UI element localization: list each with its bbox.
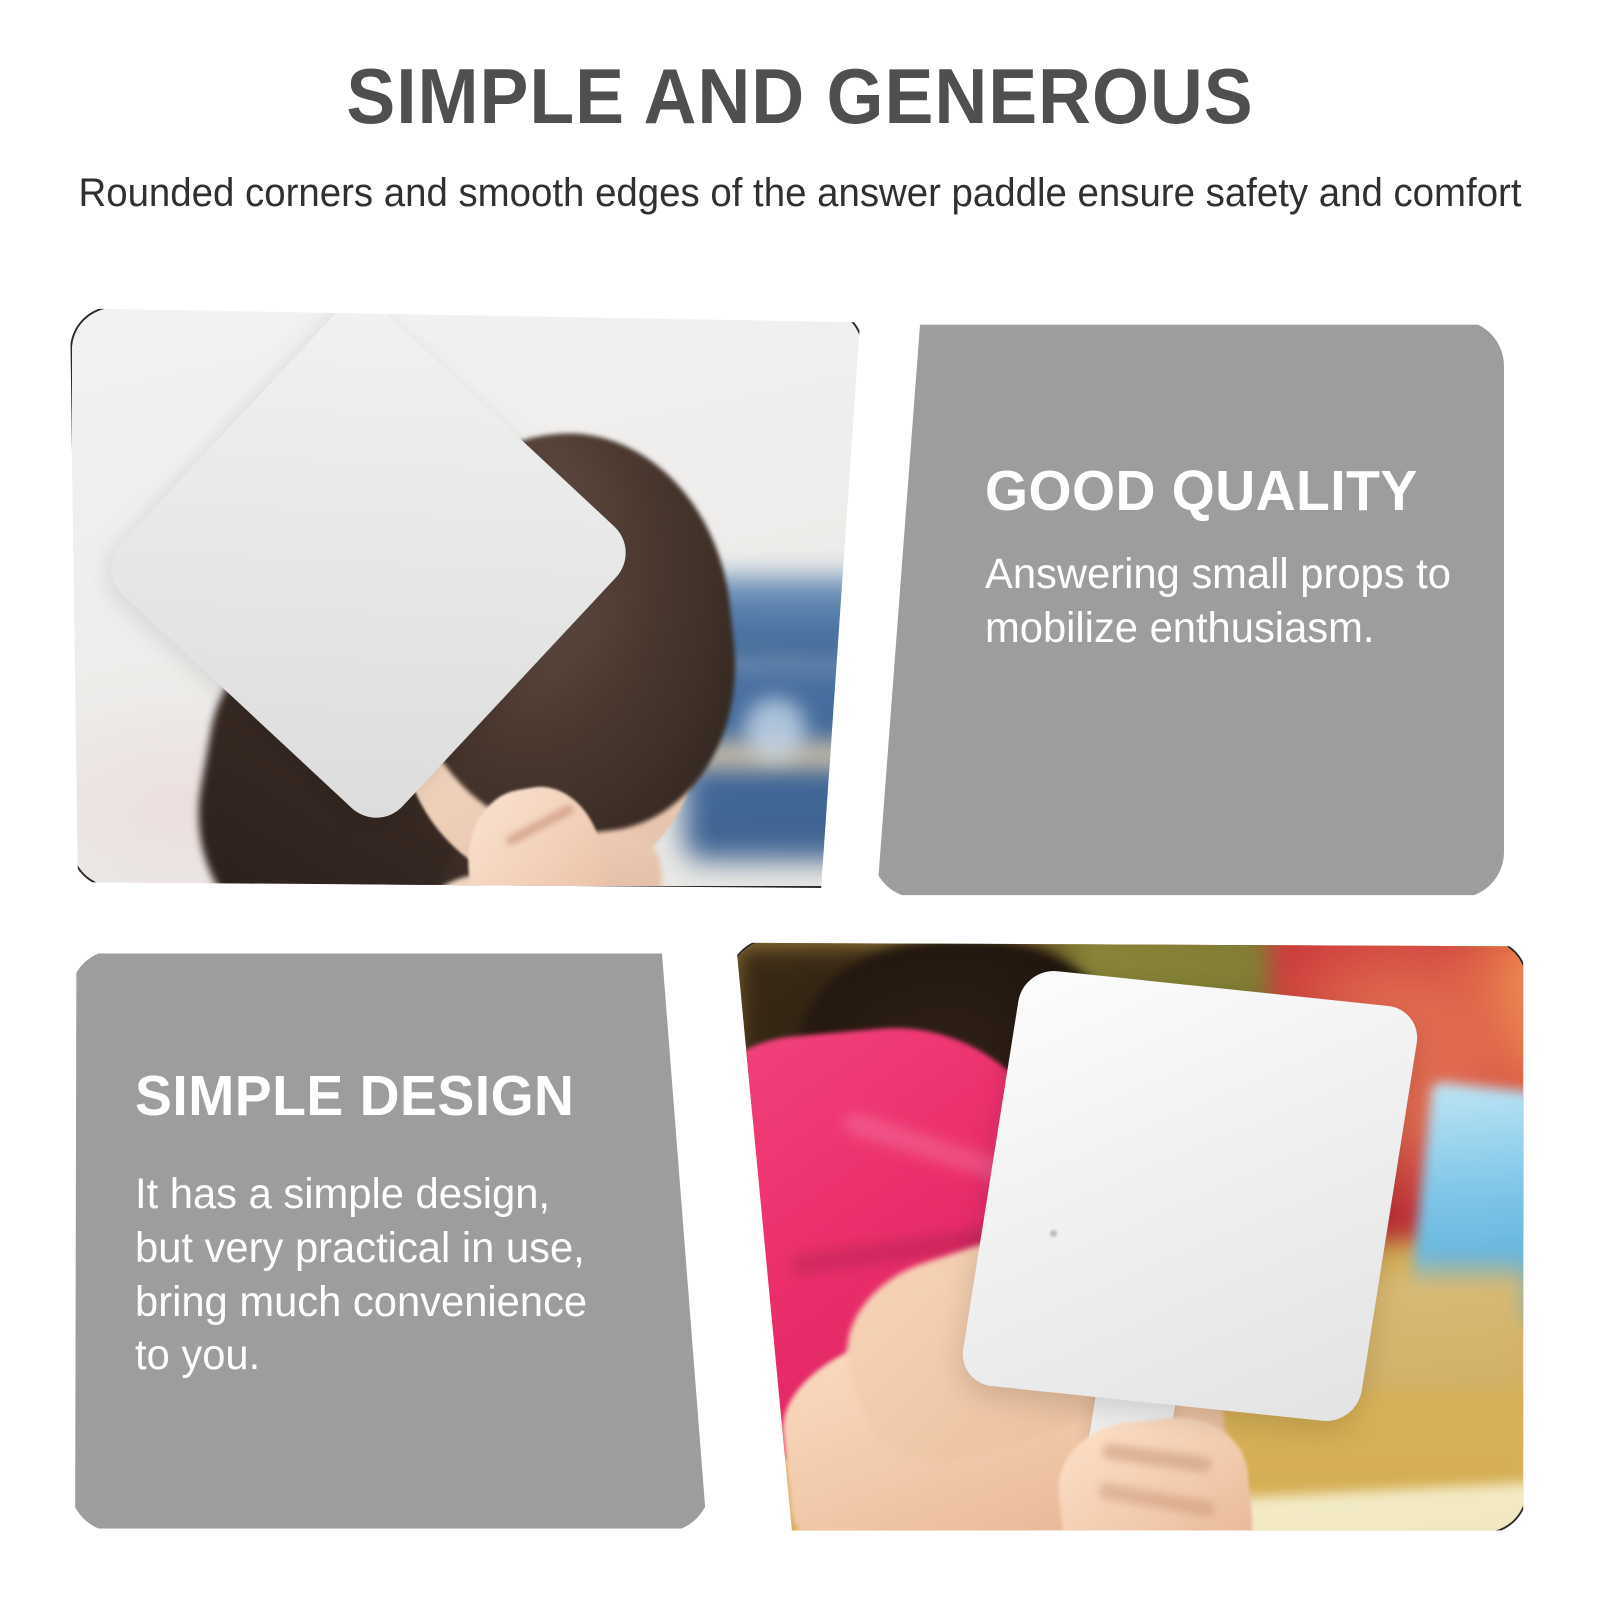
card-body-simple-design: It has a simple design, but very practic… [135, 1168, 601, 1383]
answer-paddle-board [958, 968, 1422, 1425]
card-heading-good-quality: GOOD QUALITY [985, 463, 1418, 520]
header: SIMPLE AND GENEROUS Rounded corners and … [0, 0, 1600, 220]
card-heading-simple-design: SIMPLE DESIGN [135, 1068, 574, 1125]
paddle-surface-speck [1050, 1230, 1057, 1237]
card-body-good-quality: Answering small props to mobilize enthus… [985, 548, 1470, 656]
classroom-desk-scene [730, 940, 1526, 1532]
bokeh-highlight-icon [744, 698, 806, 760]
classroom-scene [72, 308, 862, 886]
feature-card-good-quality: GOOD QUALITY Answering small props to mo… [872, 320, 1504, 898]
page-title: SIMPLE AND GENEROUS [48, 0, 1552, 138]
photo-card-child-paddle [70, 306, 864, 888]
photo-card-child-desk [728, 938, 1528, 1534]
page-subtitle: Rounded corners and smooth edges of the … [32, 138, 1568, 220]
feature-card-simple-design: SIMPLE DESIGN It has a simple design, bu… [70, 950, 710, 1532]
